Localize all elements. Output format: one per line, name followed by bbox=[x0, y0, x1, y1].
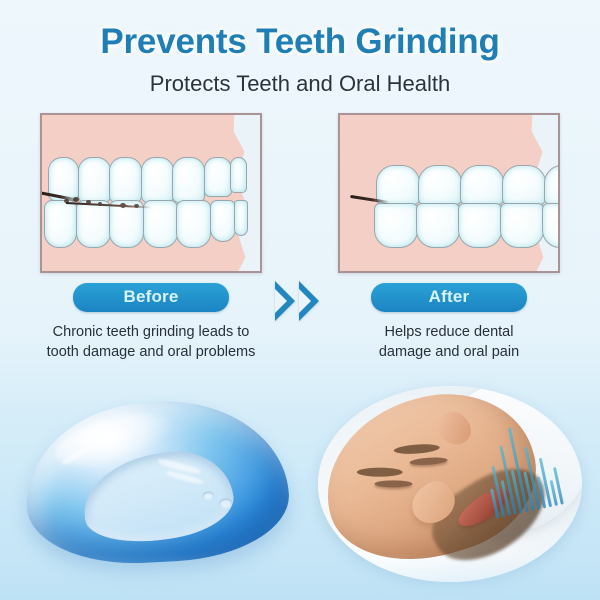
tooth bbox=[500, 203, 544, 248]
after-label-block: After Helps reduce dental damage and ora… bbox=[338, 283, 560, 362]
mouth-guard-body bbox=[22, 395, 292, 568]
tooth bbox=[502, 165, 546, 205]
tooth bbox=[141, 157, 174, 203]
after-teeth-illustration bbox=[338, 113, 560, 273]
before-caption: Chronic teeth grinding leads to tooth da… bbox=[40, 323, 262, 362]
header: Prevents Teeth Grinding Protects Teeth a… bbox=[0, 0, 600, 97]
tooth bbox=[44, 200, 77, 248]
tooth bbox=[172, 157, 205, 203]
tooth bbox=[418, 165, 462, 205]
tooth bbox=[109, 157, 142, 203]
after-caption: Helps reduce dental damage and oral pain bbox=[338, 323, 560, 362]
before-panel: Before Chronic teeth grinding leads to t… bbox=[40, 113, 262, 273]
tooth bbox=[544, 165, 560, 205]
tooth bbox=[374, 203, 418, 248]
closed-eye bbox=[374, 480, 412, 487]
page-title: Prevents Teeth Grinding bbox=[0, 0, 600, 62]
tooth bbox=[210, 200, 236, 242]
before-upper-teeth-row bbox=[48, 157, 246, 203]
before-teeth-illustration bbox=[40, 113, 262, 273]
tooth bbox=[230, 157, 247, 193]
tooth bbox=[234, 200, 248, 236]
page-subtitle: Protects Teeth and Oral Health bbox=[0, 62, 600, 97]
sleeping-man-photo bbox=[318, 386, 582, 582]
tooth bbox=[542, 203, 560, 248]
poster-root: Prevents Teeth Grinding Protects Teeth a… bbox=[0, 0, 600, 600]
after-lower-teeth-row bbox=[374, 203, 560, 248]
tooth bbox=[416, 203, 460, 248]
tooth bbox=[176, 200, 211, 248]
after-upper-teeth-row bbox=[376, 165, 560, 205]
tooth bbox=[78, 157, 111, 203]
status-badge-after: After bbox=[371, 283, 527, 312]
before-label-block: Before Chronic teeth grinding leads to t… bbox=[40, 283, 262, 362]
before-after-comparison: Before Chronic teeth grinding leads to t… bbox=[0, 113, 600, 363]
chevron-right-icon bbox=[275, 281, 295, 321]
eyebrow bbox=[357, 468, 403, 477]
bottom-section bbox=[0, 370, 600, 600]
product-image-mouth-guard bbox=[18, 380, 296, 580]
tooth bbox=[204, 157, 232, 197]
after-panel: After Helps reduce dental damage and ora… bbox=[338, 113, 560, 273]
status-badge-before: Before bbox=[73, 283, 229, 312]
tooth bbox=[76, 200, 111, 248]
tooth bbox=[460, 165, 504, 205]
tooth bbox=[458, 203, 502, 248]
double-chevron-right-icon bbox=[275, 275, 335, 331]
ear bbox=[432, 406, 477, 451]
chevron-right-icon bbox=[299, 281, 319, 321]
